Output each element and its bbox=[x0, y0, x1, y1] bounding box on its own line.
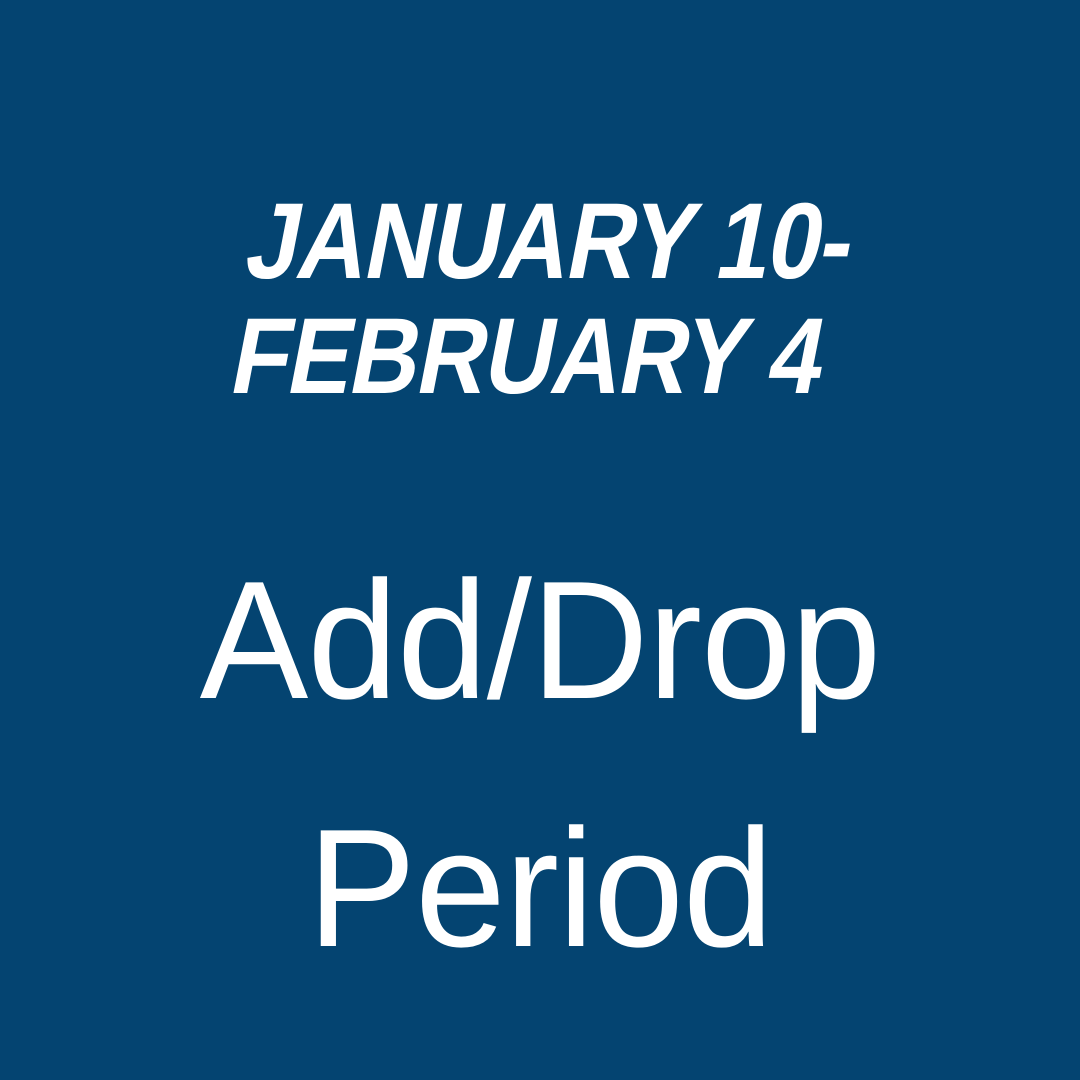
event-title-line-2: Period bbox=[16, 764, 1064, 1012]
date-range-line-1: JANUARY 10- bbox=[65, 183, 1038, 298]
event-title-line-1: Add/Drop bbox=[16, 516, 1064, 764]
announcement-card: JANUARY 10- FEBRUARY 4 Add/Drop Period bbox=[0, 0, 1080, 1080]
date-range-heading: JANUARY 10- FEBRUARY 4 bbox=[0, 183, 1080, 413]
event-title: Add/Drop Period bbox=[0, 516, 1080, 1012]
date-range-line-2: FEBRUARY 4 bbox=[42, 298, 1015, 413]
